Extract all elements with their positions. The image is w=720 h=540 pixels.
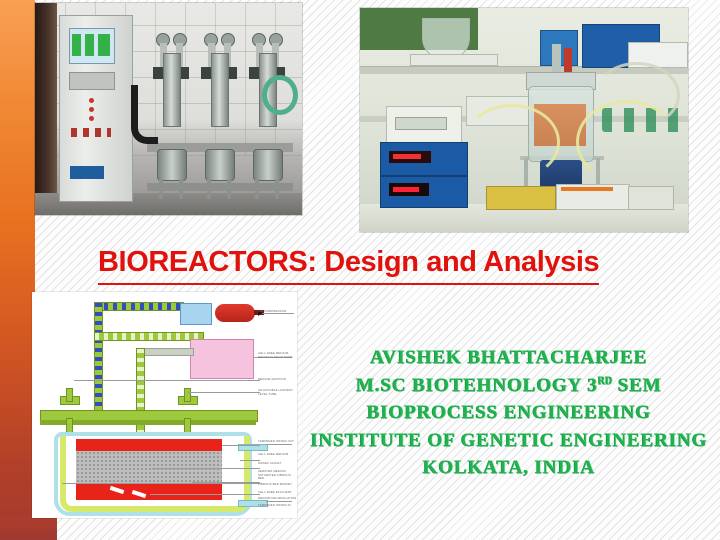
label-air-compressor: AIR COMPRESSOR [258,310,286,314]
cabinet-indicator-lights [76,98,108,128]
tubing-upper-right [594,62,680,128]
left-accent-bar-foot [0,516,57,540]
label-aerated-medium: AERATED MEDIUM SATURATED FIBROUS BED [258,470,291,481]
cell-free-medium-layer [76,439,222,451]
cabinet-knobs [71,128,111,137]
lead-aerated-medium [152,468,260,469]
fibrous-bed-layer [76,451,222,483]
harvest-valve-stem [184,388,191,402]
lead-tempered-water-in [266,501,292,502]
label-fibrous-bed-basket: FIBROUS BED BASKET [258,483,292,487]
industrial-bioreactor-photo [35,3,302,215]
air-line-vertical [94,302,103,424]
green-coiled-hose [262,75,298,115]
lead-cell-free-medium [222,445,260,446]
air-filter-box [180,303,212,325]
left-accent-bar [0,0,35,540]
label-water-jacket: WATER JACKET [258,462,281,466]
white-bench-unit [556,184,630,210]
author-course-post: SEM [612,375,662,396]
lab-tray [410,54,498,66]
cabinet-logo [70,166,104,179]
vessel-2 [199,31,239,199]
author-subject: BIOPROCESS ENGINEERING [300,399,718,427]
recirculation-pump [190,339,254,379]
reactor-red-port [564,48,572,74]
label-tempered-water-out: TEMPERED WATER OUT [258,440,294,444]
air-compressor [215,304,255,322]
page-title: BIOREACTORS: Design and Analysis [98,246,638,285]
controller-unit-b [380,142,468,176]
cabinet-screen-bars [72,34,110,56]
air-line-horizontal [94,302,184,311]
author-name: AVISHEK BHATTACHARJEE [300,344,718,372]
page-title-text: BIOREACTORS: Design and Analysis [98,246,599,285]
grey-bench-unit [628,186,674,210]
author-course-pre: M.SC BIOTEHNOLOGY 3 [356,375,598,396]
lead-medium-recirculation [150,494,260,495]
lead-tempered-water-out [266,444,292,445]
lead-harvest-tube [188,392,260,393]
lead-cell-free-effluent [62,483,260,484]
label-cell-free-effluent: CELL-FREE EFFLUENT [258,491,292,495]
medium-addition-stem [66,388,73,402]
vessel-3 [247,31,287,199]
fermenter-rig [147,31,293,199]
controller-unit-c [380,176,468,208]
controller-unit-a [386,106,462,144]
author-institute: INSTITUTE OF GENETIC ENGINEERING [300,427,718,455]
presentation-slide: AIR COMPRESSOR CELL-FREE MEDIUM RECIRCUL… [0,0,720,540]
cell-free-effluent-layer [76,483,222,500]
author-course: M.SC BIOTEHNOLOGY 3RD SEM [300,372,718,400]
author-credits: AVISHEK BHATTACHARJEE M.SC BIOTEHNOLOGY … [300,344,718,482]
cabinet-panel [69,72,115,90]
photo-dark-edge [35,3,57,215]
label-medium-addition: MEDIUM ADDITION [258,378,286,382]
lead-water-jacket [240,460,260,461]
black-hose [131,85,158,144]
author-course-sup: RD [598,375,612,386]
control-cabinet [59,15,133,202]
lead-medium-addition [74,380,260,381]
reactor-stack [552,44,561,74]
label-recirculation-pump: CELL-FREE MEDIUM RECIRCULATION PUMP [258,352,293,359]
bioreactor-schematic-diagram: AIR COMPRESSOR CELL-FREE MEDIUM RECIRCUL… [32,292,297,518]
label-harvest-tube: ADJUSTABLE HARVEST LEVEL TUBE [258,389,293,396]
lab-bioreactor-photo [360,8,688,232]
label-tempered-water-in: TEMPERED WATER IN [258,504,291,508]
yellow-bench-unit [486,186,556,210]
tubing-left [464,104,560,180]
recirculation-line-horizontal [94,332,204,341]
label-cell-free-medium: CELL-FREE MEDIUM [258,453,288,457]
author-location: KOLKATA, INDIA [300,454,718,482]
